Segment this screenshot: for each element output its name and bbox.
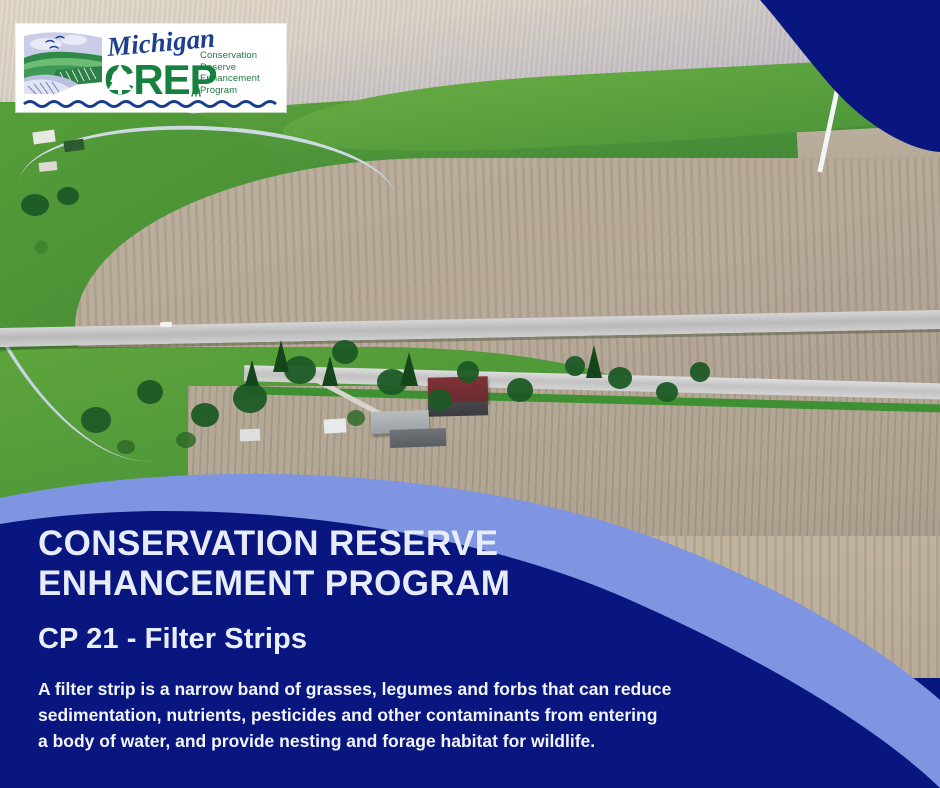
practice-description-line-2: sedimentation, nutrients, pesticides and…	[38, 702, 768, 728]
page-title-line-1: CONSERVATION RESERVE	[38, 524, 778, 564]
practice-description-line-3: a body of water, and provide nesting and…	[38, 728, 768, 754]
navy-corner-swoosh	[760, 0, 940, 152]
content-block: CONSERVATION RESERVE ENHANCEMENT PROGRAM…	[38, 524, 778, 754]
logo-subtext-line-2: Reserve	[200, 62, 286, 74]
page-title: CONSERVATION RESERVE ENHANCEMENT PROGRAM	[38, 524, 778, 604]
logo-subtext: Conservation Reserve Enhancement Program	[200, 50, 286, 96]
logo-subtext-line-4: Program	[200, 85, 286, 97]
logo-subtext-line-3: Enhancement	[200, 73, 286, 85]
practice-description: A filter strip is a narrow band of grass…	[38, 676, 768, 754]
michigan-crep-logo[interactable]: Michigan CREP Conservation	[16, 24, 286, 112]
poster-canvas: Michigan CREP Conservation	[0, 0, 940, 788]
logo-subtext-line-1: Conservation	[200, 50, 286, 62]
practice-description-line-1: A filter strip is a narrow band of grass…	[38, 676, 768, 702]
farm-landscape-icon	[24, 32, 102, 94]
water-wave-icon	[24, 102, 276, 107]
practice-subtitle: CP 21 - Filter Strips	[38, 622, 778, 656]
page-title-line-2: ENHANCEMENT PROGRAM	[38, 564, 778, 604]
